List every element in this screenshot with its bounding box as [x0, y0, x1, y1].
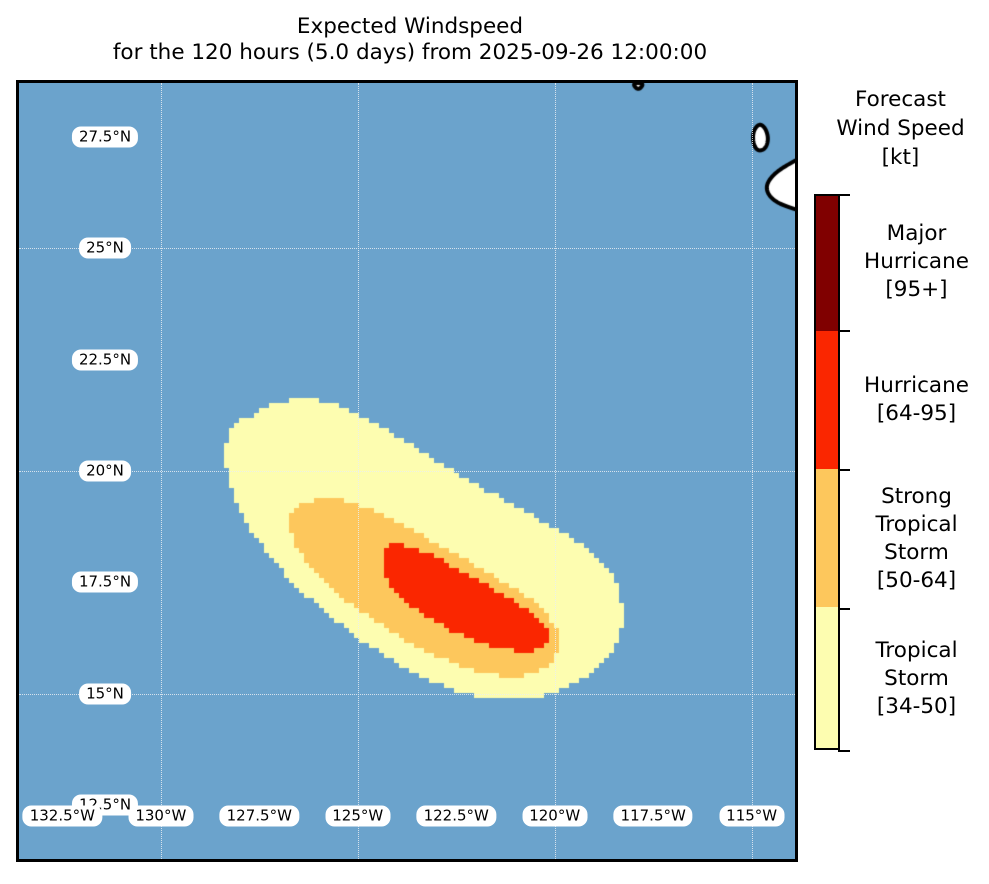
- lon-tick-label: 115°W: [719, 806, 784, 827]
- gridline-parallel: [19, 248, 795, 249]
- colorbar-tick: [838, 469, 850, 471]
- colorbar-tick: [838, 608, 850, 610]
- colorbar-tick: [838, 194, 850, 196]
- colorbar-segment: [816, 331, 838, 469]
- lon-tick-label: 125°W: [325, 806, 390, 827]
- lon-tick-label: 127.5°W: [220, 806, 299, 827]
- lat-tick-label: 20°N: [79, 461, 131, 482]
- forecast-map[interactable]: 27.5°N25°N22.5°N20°N17.5°N15°N12.5°N132.…: [16, 80, 798, 862]
- gridline-parallel: [19, 694, 795, 695]
- lon-tick-label: 122.5°W: [417, 806, 496, 827]
- colorbar-category-label: Hurricane [64-95]: [844, 372, 989, 428]
- colorbar-segment: [816, 469, 838, 607]
- page-title: Expected Windspeed for the 120 hours (5.…: [0, 14, 820, 66]
- lat-tick-label: 15°N: [79, 683, 131, 704]
- colorbar-segment: [816, 607, 838, 748]
- colorbar-category-label: Tropical Storm [34-50]: [844, 637, 989, 721]
- lon-tick-label: 132.5°W: [23, 806, 102, 827]
- colorbar-category-label: Major Hurricane [95+]: [844, 220, 989, 304]
- colorbar-tick: [838, 750, 850, 752]
- lon-tick-label: 117.5°W: [614, 806, 693, 827]
- colorbar-segment: [816, 196, 838, 331]
- colorbar-tick: [838, 330, 850, 332]
- lat-tick-label: 22.5°N: [72, 349, 138, 370]
- lat-tick-label: 17.5°N: [72, 572, 138, 593]
- colorbar: Forecast Wind Speed [kt] Major Hurricane…: [812, 80, 989, 862]
- colorbar-gradient[interactable]: [814, 194, 840, 750]
- lat-tick-label: 27.5°N: [72, 126, 138, 147]
- colorbar-category-label: Strong Tropical Storm [50-64]: [844, 483, 989, 595]
- lon-tick-label: 120°W: [522, 806, 587, 827]
- gridline-parallel: [19, 471, 795, 472]
- lon-tick-label: 130°W: [128, 806, 193, 827]
- lat-tick-label: 25°N: [79, 238, 131, 259]
- colorbar-title: Forecast Wind Speed [kt]: [812, 85, 989, 172]
